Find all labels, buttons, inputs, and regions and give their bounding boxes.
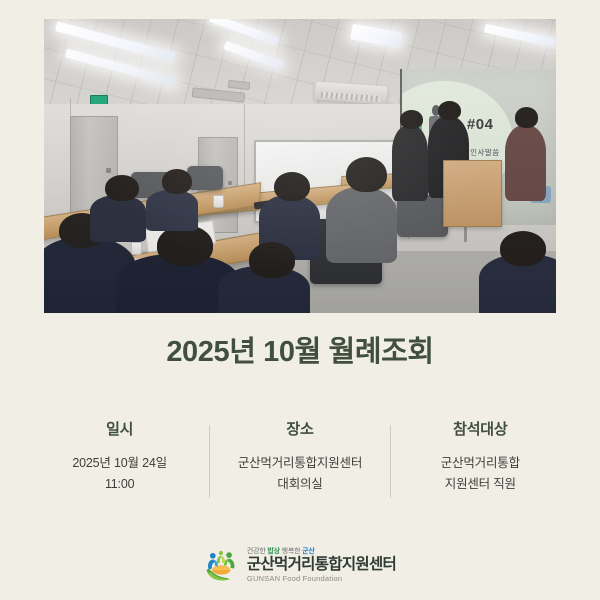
logo-tagline-part2: 행복한 [280,548,302,555]
door-handle [228,181,232,185]
detail-line: 11:00 [36,474,203,495]
detail-body: 군산먹거리통합 지원센터 직원 [397,453,564,494]
meeting-photo: #04 인사말씀 [44,19,556,313]
slide-number: #04 [467,116,494,133]
attendee-head [500,231,546,266]
logo-tagline-green: 밥상 [267,548,279,555]
page-title: 2025년 10월 월례조회 [0,334,600,370]
detail-heading: 장소 [216,418,383,439]
gunsan-food-foundation-logo-icon [204,548,240,582]
presenter [392,125,428,201]
detail-column-attendees: 참석대상 군산먹거리통합 지원센터 직원 [391,418,570,494]
detail-line: 군산먹거리통합지원센터 [216,453,383,474]
footer: 건강한 밥상 행복한 군산 군산먹거리통합지원센터 GUNSAN Food Fo… [0,530,600,600]
paper-cup [131,242,142,255]
detail-line: 지원센터 직원 [397,474,564,495]
attendee [326,187,398,263]
attendee-head [105,175,138,201]
presenter-head [438,101,461,120]
detail-column-datetime: 일시 2025년 10월 24일 11:00 [30,418,209,494]
detail-line: 군산먹거리통합 [397,453,564,474]
chair [187,166,223,190]
presenter [505,125,546,201]
attendee [90,195,146,242]
attendee-head [249,242,295,277]
logo-tagline: 건강한 밥상 행복한 군산 [247,548,396,555]
detail-column-location: 장소 군산먹거리통합지원센터 대회의실 [210,418,389,494]
presenter-head [400,110,423,129]
podium [443,160,501,227]
detail-body: 군산먹거리통합지원센터 대회의실 [216,453,383,494]
meeting-photo-scene: #04 인사말씀 [44,19,556,313]
attendee-head [346,157,387,192]
attendee-head [162,169,193,194]
logo-text-block: 건강한 밥상 행복한 군산 군산먹거리통합지원센터 GUNSAN Food Fo… [247,548,396,582]
door-handle [106,168,111,172]
logo-tagline-blue: 군산 [302,548,314,555]
detail-heading: 일시 [36,418,203,439]
detail-line: 대회의실 [216,474,383,495]
wall-edge [244,104,245,192]
attendee-head [157,225,213,266]
detail-line: 2025년 10월 24일 [36,453,203,474]
presenter-head [515,107,538,128]
chair [397,195,448,236]
attendee-head [274,172,310,201]
slide-caption: 인사말씀 [470,147,500,158]
logo-organization-name: 군산먹거리통합지원센터 [247,557,396,573]
logo-tagline-part1: 건강한 [247,548,267,555]
detail-heading: 참석대상 [397,418,564,439]
organization-logo: 건강한 밥상 행복한 군산 군산먹거리통합지원센터 GUNSAN Food Fo… [204,548,396,582]
detail-body: 2025년 10월 24일 11:00 [36,453,203,494]
paper-cup [213,195,224,208]
event-poster: #04 인사말씀 [0,0,600,600]
event-details: 일시 2025년 10월 24일 11:00 장소 군산먹거리통합지원센터 대회… [30,418,570,498]
attendee [146,190,197,231]
logo-organization-english: GUNSAN Food Foundation [247,575,396,583]
